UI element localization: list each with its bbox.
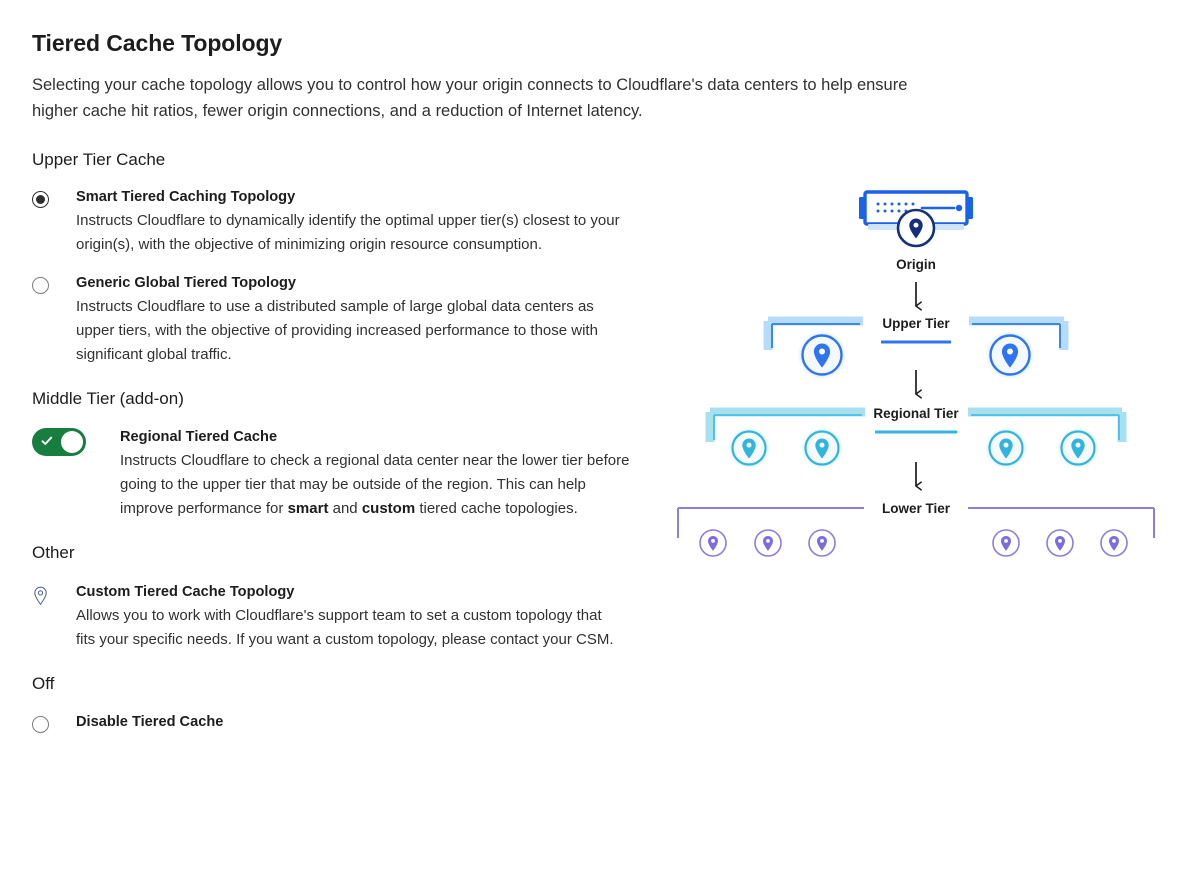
toggle-knob (61, 431, 83, 453)
regional-tier-node (801, 427, 843, 469)
desc-bold-custom: custom (362, 500, 415, 517)
option-title-smart-tiered-caching: Smart Tiered Caching Topology (76, 187, 652, 207)
option-smart-tiered-caching[interactable]: Smart Tiered Caching Topology Instructs … (32, 187, 652, 257)
regional-tier-group: Regional Tier (710, 406, 1122, 469)
option-desc-smart-tiered-caching: Instructs Cloudflare to dynamically iden… (76, 209, 636, 257)
option-title-regional-tiered-cache: Regional Tiered Cache (120, 427, 652, 447)
radio-smart-tiered-caching[interactable] (32, 191, 49, 208)
page-intro: Selecting your cache topology allows you… (32, 72, 932, 124)
option-regional-tiered-cache[interactable]: Regional Tiered Cache Instructs Cloudfla… (32, 427, 652, 521)
lower-tier-node (1047, 530, 1073, 556)
lower-tier-node (809, 530, 835, 556)
section-heading-other: Other (32, 543, 652, 563)
option-generic-global-tiered[interactable]: Generic Global Tiered Topology Instructs… (32, 273, 652, 367)
option-custom-tiered-cache[interactable]: Custom Tiered Cache Topology Allows you … (32, 582, 652, 652)
toggle-regional-tiered-cache[interactable] (32, 428, 86, 456)
diagram-label-lower-tier: Lower Tier (882, 501, 951, 516)
desc-seg-3: tiered cache topologies. (415, 500, 578, 517)
section-heading-middle-tier: Middle Tier (32, 389, 115, 408)
regional-tier-node (1057, 427, 1099, 469)
lower-tier-node (993, 530, 1019, 556)
desc-bold-smart: smart (288, 500, 329, 517)
option-desc-regional-tiered-cache: Instructs Cloudflare to check a regional… (120, 449, 640, 521)
diagram-label-upper-tier: Upper Tier (882, 316, 950, 331)
radio-smart-tiered-caching-wrap[interactable] (32, 187, 76, 208)
upper-tier-node (985, 330, 1035, 380)
option-desc-generic-global-tiered: Instructs Cloudflare to use a distribute… (76, 295, 601, 367)
radio-generic-global-tiered-wrap[interactable] (32, 273, 76, 294)
regional-tier-node (985, 427, 1027, 469)
option-title-generic-global-tiered: Generic Global Tiered Topology (76, 273, 652, 293)
pin-icon-custom-wrap (32, 582, 76, 606)
tiered-cache-topology-page: Tiered Cache Topology Selecting your cac… (0, 0, 1188, 870)
diagram-svg: Origin Upper Tier (660, 180, 1172, 580)
lower-tier-node (1101, 530, 1127, 556)
radio-disable-tiered-cache-wrap[interactable] (32, 712, 76, 733)
diagram-label-origin: Origin (896, 257, 936, 272)
radio-disable-tiered-cache[interactable] (32, 716, 49, 733)
option-desc-custom-tiered-cache: Allows you to work with Cloudflare's sup… (76, 604, 616, 652)
option-title-disable-tiered-cache: Disable Tiered Cache (76, 712, 652, 732)
lower-tier-group: Lower Tier (678, 501, 1154, 556)
page-title: Tiered Cache Topology (32, 30, 652, 58)
option-title-custom-tiered-cache: Custom Tiered Cache Topology (76, 582, 652, 602)
lower-tier-node (755, 530, 781, 556)
map-pin-icon (32, 586, 49, 606)
section-heading-off: Off (32, 674, 652, 694)
section-heading-middle-tier-addon: (add-on) (120, 389, 184, 408)
desc-seg-2: and (328, 500, 361, 517)
option-disable-tiered-cache[interactable]: Disable Tiered Cache (32, 712, 652, 734)
origin-node: Origin (859, 192, 973, 272)
diagram-label-regional-tier: Regional Tier (873, 406, 959, 421)
section-heading-upper-tier: Upper Tier Cache (32, 150, 652, 170)
lower-tier-node (700, 530, 726, 556)
settings-column: Tiered Cache Topology Selecting your cac… (32, 30, 652, 734)
checkmark-icon (41, 435, 53, 447)
upper-tier-node (797, 330, 847, 380)
radio-generic-global-tiered[interactable] (32, 277, 49, 294)
tiered-cache-diagram: Origin Upper Tier (660, 180, 1172, 580)
origin-pin-icon (898, 210, 934, 246)
toggle-regional-tiered-cache-wrap[interactable] (32, 427, 120, 456)
regional-tier-node (728, 427, 770, 469)
